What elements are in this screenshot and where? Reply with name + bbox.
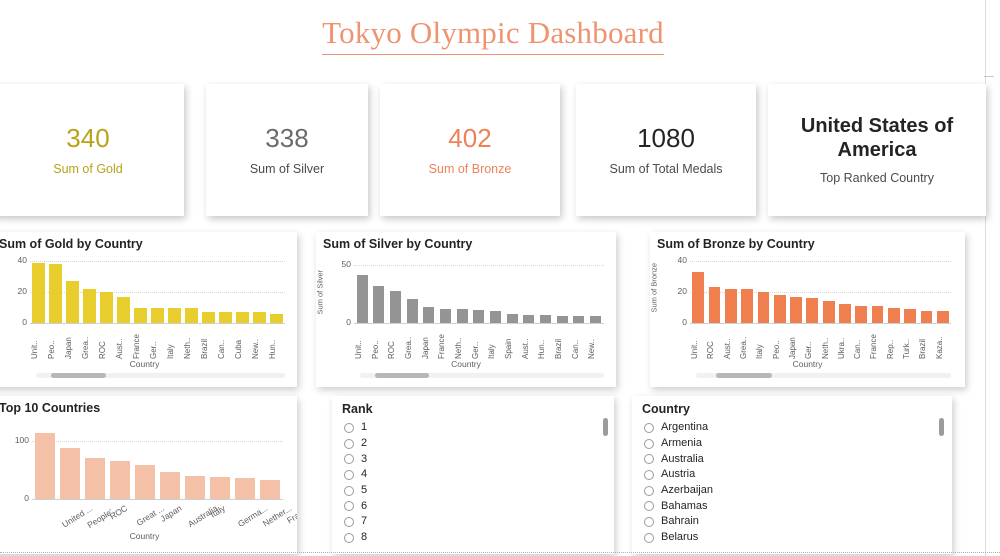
chart-horizontal-scrollbar[interactable]: [360, 373, 604, 378]
slicer-scrollbar-thumb-country[interactable]: [939, 418, 944, 436]
slicer-item[interactable]: Bahamas: [644, 498, 952, 514]
slicer-item[interactable]: Bahrain: [644, 514, 952, 530]
radio-button-icon[interactable]: [644, 501, 654, 511]
bar-slot[interactable]: [387, 265, 404, 323]
radio-button-icon[interactable]: [344, 533, 354, 543]
x-axis-label: Peo..: [772, 325, 788, 359]
x-axis-label: Can..: [571, 325, 588, 359]
x-axis-line: [690, 323, 951, 324]
radio-button-icon[interactable]: [344, 517, 354, 527]
x-axis-label: Turk..: [902, 325, 918, 359]
kpi-value-total-medals: 1080: [637, 124, 695, 153]
bar-slot[interactable]: [918, 261, 934, 323]
x-axis-label: Grea..: [404, 325, 421, 359]
bar[interactable]: [839, 304, 851, 323]
bar-slot[interactable]: [437, 265, 454, 323]
radio-button-icon[interactable]: [344, 486, 354, 496]
bar[interactable]: [457, 309, 468, 323]
bar-slot[interactable]: [354, 265, 371, 323]
x-axis-label: Aust..: [115, 325, 132, 359]
x-axis-label: Brazil: [200, 325, 217, 359]
bar-slot[interactable]: [47, 261, 64, 323]
x-axis-label: Aust..: [521, 325, 538, 359]
bar-slot[interactable]: [32, 429, 57, 499]
x-axis-label: Can..: [217, 325, 234, 359]
chart-plot-bronze: Sum of Bronze02040Unit..ROCAust..Grea..I…: [650, 251, 965, 376]
x-axis-label: Spain: [504, 325, 521, 359]
slicer-item[interactable]: Argentina: [644, 420, 952, 436]
slicer-item-label: 6: [361, 501, 367, 512]
slicer-title-country: Country: [632, 396, 952, 418]
bar-slot[interactable]: [537, 265, 554, 323]
chart-horizontal-scrollbar[interactable]: [36, 373, 285, 378]
bar[interactable]: [523, 315, 534, 323]
x-axis-label: France: [437, 325, 454, 359]
bar-slot[interactable]: [200, 261, 217, 323]
bar[interactable]: [557, 316, 568, 323]
x-axis-label: Peo..: [371, 325, 388, 359]
chart-card-gold[interactable]: Sum of Gold by Country Sum of Gold02040U…: [0, 232, 297, 387]
dashboard-title-container: Tokyo Olympic Dashboard: [0, 14, 986, 55]
slicer-item-label: 1: [361, 422, 367, 433]
x-axis-label: Aust..: [723, 325, 739, 359]
x-axis-label: Grea..: [81, 325, 98, 359]
x-axis-title: Country: [316, 359, 616, 369]
bar[interactable]: [85, 458, 105, 499]
bar[interactable]: [134, 308, 146, 324]
x-axis-label: Can..: [853, 325, 869, 359]
slicer-item-label: Austria: [661, 469, 695, 480]
bar-slot[interactable]: [57, 429, 82, 499]
bar-slot[interactable]: [886, 261, 902, 323]
kpi-label-gold: Sum of Gold: [53, 162, 122, 176]
slicer-item[interactable]: Austria: [644, 467, 952, 483]
bar[interactable]: [202, 312, 214, 323]
radio-button-icon[interactable]: [644, 423, 654, 433]
bar[interactable]: [185, 308, 197, 324]
chart-plot-silver: Sum of Silver050Unit..Peo..ROCGrea..Japa…: [316, 251, 616, 376]
x-axis-label: France: [132, 325, 149, 359]
bar[interactable]: [373, 286, 384, 323]
slicer-item-label: 8: [361, 532, 367, 543]
bar[interactable]: [135, 465, 155, 499]
slicer-scrollbar-thumb-rank[interactable]: [603, 418, 608, 436]
kpi-card-gold[interactable]: 340 Sum of Gold: [0, 84, 184, 216]
bar-slot[interactable]: [421, 265, 438, 323]
bar-slot[interactable]: [504, 265, 521, 323]
chart-title-bronze: Sum of Bronze by Country: [650, 232, 965, 251]
chart-scrollbar-thumb[interactable]: [375, 373, 429, 378]
bar-slot[interactable]: [853, 261, 869, 323]
slicer-item[interactable]: 8: [344, 530, 614, 546]
slicer-scrollbar-rank[interactable]: [603, 418, 608, 544]
slicer-item[interactable]: Armenia: [644, 436, 952, 452]
kpi-value-bronze: 402: [448, 124, 491, 153]
bar[interactable]: [741, 289, 753, 323]
x-axis-label: Ger..: [471, 325, 488, 359]
bar-slot[interactable]: [554, 265, 571, 323]
slicer-item-label: Armenia: [661, 438, 702, 449]
bar-slot[interactable]: [404, 265, 421, 323]
chart-horizontal-scrollbar[interactable]: [696, 373, 951, 378]
x-axis-label: Italy: [755, 325, 771, 359]
x-axis-label: Unit..: [690, 325, 706, 359]
bar-slot[interactable]: [521, 265, 538, 323]
bar[interactable]: [888, 308, 900, 324]
bar[interactable]: [855, 306, 867, 323]
bar[interactable]: [473, 310, 484, 323]
slicer-card-rank[interactable]: Rank 12345678: [332, 396, 614, 554]
kpi-value-silver: 338: [265, 124, 308, 153]
x-axis-label: Italy: [487, 325, 504, 359]
bar[interactable]: [872, 306, 884, 323]
bar-slot[interactable]: [935, 261, 951, 323]
bar[interactable]: [357, 275, 368, 323]
x-axis-label: New..: [587, 325, 604, 359]
slicer-list-rank[interactable]: 12345678: [332, 418, 614, 546]
x-axis-labels: Unit..Peo..ROCGrea..JapanFranceNeth..Ger…: [354, 325, 604, 359]
slicer-item-label: 2: [361, 438, 367, 449]
chart-title-top10: Top 10 Countries: [0, 396, 297, 415]
bar[interactable]: [440, 309, 451, 323]
x-axis-label: Unit..: [30, 325, 47, 359]
chart-card-top10[interactable]: Top 10 Countries Sum of Total Med..0100U…: [0, 396, 297, 554]
bar[interactable]: [390, 291, 401, 323]
bar[interactable]: [407, 299, 418, 323]
chart-scrollbar-thumb[interactable]: [51, 373, 106, 378]
radio-button-icon[interactable]: [344, 501, 354, 511]
bar[interactable]: [823, 301, 835, 323]
x-axis-label: Brazil: [918, 325, 934, 359]
radio-button-icon[interactable]: [344, 439, 354, 449]
bar-slot[interactable]: [132, 261, 149, 323]
bar[interactable]: [66, 281, 78, 323]
radio-button-icon[interactable]: [644, 486, 654, 496]
bar-series: [32, 429, 283, 499]
bar-slot[interactable]: [690, 261, 706, 323]
bar-slot[interactable]: [233, 429, 258, 499]
y-axis-title: Sum of Total Med..: [0, 441, 1, 485]
slicer-item[interactable]: 1: [344, 420, 614, 436]
x-axis-label: Ger..: [804, 325, 820, 359]
slicer-item[interactable]: 2: [344, 436, 614, 452]
radio-button-icon[interactable]: [344, 454, 354, 464]
x-axis-label: Grea..: [739, 325, 755, 359]
bar-slot[interactable]: [166, 261, 183, 323]
slicer-item-label: 3: [361, 454, 367, 465]
slicer-title-rank: Rank: [332, 396, 614, 418]
x-axis-label: Rep..: [886, 325, 902, 359]
slicer-item-label: Bahamas: [661, 501, 707, 512]
radio-button-icon[interactable]: [644, 470, 654, 480]
chart-title-gold: Sum of Gold by Country: [0, 232, 297, 251]
bar[interactable]: [35, 433, 55, 499]
bar-slot[interactable]: [149, 261, 166, 323]
bar-slot[interactable]: [132, 429, 157, 499]
x-axis-title: Country: [0, 359, 297, 369]
kpi-label-bronze: Sum of Bronze: [429, 162, 512, 176]
bar-slot[interactable]: [81, 261, 98, 323]
x-axis-label: Cuba: [234, 325, 251, 359]
x-axis-label: Japan: [421, 325, 438, 359]
y-axis-tick-label: 20: [663, 287, 687, 296]
x-axis-label: Unit..: [354, 325, 371, 359]
bar-slot[interactable]: [723, 261, 739, 323]
slicer-item-label: Australia: [661, 454, 704, 465]
slicer-list-country[interactable]: ArgentinaArmeniaAustraliaAustriaAzerbaij…: [632, 418, 952, 546]
x-axis-label: Japan: [64, 325, 81, 359]
bar[interactable]: [260, 480, 280, 499]
x-axis-label: Ger..: [149, 325, 166, 359]
slicer-item[interactable]: 4: [344, 467, 614, 483]
bar[interactable]: [49, 264, 61, 323]
bar[interactable]: [507, 314, 518, 323]
kpi-value-top-ranked-country: United States of America: [776, 115, 978, 162]
bar-slot[interactable]: [471, 265, 488, 323]
bar-slot[interactable]: [115, 261, 132, 323]
x-axis-labels: Unit..ROCAust..Grea..ItalyPeo..JapanGer.…: [690, 325, 951, 359]
chart-card-bronze[interactable]: Sum of Bronze by Country Sum of Bronze02…: [650, 232, 965, 387]
bar-slot[interactable]: [157, 429, 182, 499]
dashboard-page: Tokyo Olympic Dashboard 340 Sum of Gold …: [0, 0, 1000, 556]
bar-slot[interactable]: [706, 261, 722, 323]
bar[interactable]: [32, 263, 44, 323]
bar-slot[interactable]: [217, 261, 234, 323]
bar[interactable]: [806, 298, 818, 323]
slicer-item[interactable]: Australia: [644, 451, 952, 467]
radio-button-icon[interactable]: [644, 533, 654, 543]
chart-plot-top10: Sum of Total Med..0100United ...People'.…: [0, 415, 297, 545]
bar[interactable]: [774, 295, 786, 323]
bar-series: [690, 261, 951, 323]
x-axis-label: Kaza..: [935, 325, 951, 359]
bar-slot[interactable]: [371, 265, 388, 323]
x-axis-label: Neth..: [821, 325, 837, 359]
slicer-item-label: 5: [361, 485, 367, 496]
slicer-item-label: 7: [361, 516, 367, 527]
bar-slot[interactable]: [587, 265, 604, 323]
slicer-item-label: Azerbaijan: [661, 485, 713, 496]
bar-slot[interactable]: [251, 261, 268, 323]
bar-slot[interactable]: [755, 261, 771, 323]
y-axis-tick-label: 0: [663, 318, 687, 327]
bar[interactable]: [790, 297, 802, 323]
bar-slot[interactable]: [739, 261, 755, 323]
bar-slot[interactable]: [64, 261, 81, 323]
slicer-scrollbar-country[interactable]: [939, 418, 944, 544]
x-axis-label: Hun..: [537, 325, 554, 359]
bar[interactable]: [253, 312, 265, 323]
x-axis-label: Neth..: [454, 325, 471, 359]
kpi-label-silver: Sum of Silver: [250, 162, 324, 176]
x-axis-label: Peo..: [47, 325, 64, 359]
slicer-item[interactable]: 3: [344, 451, 614, 467]
y-axis-title: Sum of Bronze: [650, 269, 659, 313]
bar-series: [30, 261, 285, 323]
bar-slot[interactable]: [902, 261, 918, 323]
x-axis-label: ROC: [706, 325, 722, 359]
bar-slot[interactable]: [804, 261, 820, 323]
kpi-label-top-ranked-country: Top Ranked Country: [820, 171, 934, 185]
bar-slot[interactable]: [183, 429, 208, 499]
bar[interactable]: [709, 287, 721, 323]
bar[interactable]: [921, 311, 933, 323]
bar-slot[interactable]: [869, 261, 885, 323]
bar[interactable]: [758, 292, 770, 323]
bar[interactable]: [185, 476, 205, 499]
radio-button-icon[interactable]: [344, 423, 354, 433]
slicer-item-label: Argentina: [661, 422, 708, 433]
bar[interactable]: [235, 478, 255, 499]
x-axis-line: [354, 323, 604, 324]
bar-slot[interactable]: [454, 265, 471, 323]
bar[interactable]: [100, 292, 112, 323]
y-axis-tick-label: 50: [327, 260, 351, 269]
bar-slot[interactable]: [107, 429, 132, 499]
bar-slot[interactable]: [571, 265, 588, 323]
slicer-item-label: 4: [361, 469, 367, 480]
y-axis-title: Sum of Silver: [316, 271, 325, 315]
bar[interactable]: [904, 309, 916, 323]
bar[interactable]: [490, 311, 501, 323]
slicer-item[interactable]: Azerbaijan: [644, 483, 952, 499]
x-axis-label: New..: [251, 325, 268, 359]
bar[interactable]: [210, 477, 230, 499]
bar-slot[interactable]: [98, 261, 115, 323]
slicer-card-country[interactable]: Country ArgentinaArmeniaAustraliaAustria…: [632, 396, 952, 554]
x-axis-title: Country: [0, 531, 297, 541]
bar[interactable]: [590, 316, 601, 323]
chart-scrollbar-thumb[interactable]: [716, 373, 772, 378]
bar[interactable]: [423, 307, 434, 323]
page-bottom-dotted-border: [0, 552, 1000, 553]
bar[interactable]: [573, 316, 584, 323]
bar-slot[interactable]: [788, 261, 804, 323]
slicer-item[interactable]: 5: [344, 483, 614, 499]
y-axis-title: Sum of Gold: [0, 269, 1, 313]
radio-button-icon[interactable]: [644, 454, 654, 464]
bar-slot[interactable]: [487, 265, 504, 323]
bar[interactable]: [168, 308, 180, 324]
bar-series: [354, 265, 604, 323]
kpi-card-bronze[interactable]: 402 Sum of Bronze: [380, 84, 560, 216]
kpi-card-total-medals[interactable]: 1080 Sum of Total Medals: [576, 84, 756, 216]
bar-slot[interactable]: [772, 261, 788, 323]
bar-slot[interactable]: [258, 429, 283, 499]
x-axis-label: Ukra..: [837, 325, 853, 359]
bar[interactable]: [151, 308, 163, 324]
radio-button-icon[interactable]: [344, 470, 354, 480]
bar-slot[interactable]: [837, 261, 853, 323]
page-title: Tokyo Olympic Dashboard: [322, 14, 664, 55]
bar[interactable]: [725, 289, 737, 323]
bar[interactable]: [270, 314, 282, 323]
slicer-item[interactable]: Belarus: [644, 530, 952, 546]
page-boundary-tick: [984, 76, 994, 77]
x-axis-label: Hun..: [268, 325, 285, 359]
bar-slot[interactable]: [30, 261, 47, 323]
bar[interactable]: [219, 312, 231, 323]
y-axis-tick-label: 100: [5, 436, 29, 445]
bar-slot[interactable]: [82, 429, 107, 499]
y-axis-tick-label: 0: [3, 318, 27, 327]
bar[interactable]: [236, 312, 248, 323]
radio-button-icon[interactable]: [644, 517, 654, 527]
x-axis-label: Japan: [788, 325, 804, 359]
bar-slot[interactable]: [183, 261, 200, 323]
slicer-item-label: Bahrain: [661, 516, 699, 527]
y-axis-tick-label: 40: [663, 256, 687, 265]
bar[interactable]: [110, 461, 130, 499]
kpi-card-top-ranked-country[interactable]: United States of America Top Ranked Coun…: [768, 84, 986, 216]
chart-card-silver[interactable]: Sum of Silver by Country Sum of Silver05…: [316, 232, 616, 387]
bar[interactable]: [692, 272, 704, 323]
y-axis-tick-label: 40: [3, 256, 27, 265]
x-axis-line: [32, 499, 283, 500]
kpi-card-silver[interactable]: 338 Sum of Silver: [206, 84, 368, 216]
kpi-card-row: 340 Sum of Gold 338 Sum of Silver 402 Su…: [0, 84, 986, 220]
radio-button-icon[interactable]: [644, 439, 654, 449]
x-axis-label: ROC: [387, 325, 404, 359]
chart-plot-gold: Sum of Gold02040Unit..Peo..JapanGrea..RO…: [0, 251, 297, 376]
kpi-label-total-medals: Sum of Total Medals: [609, 162, 722, 176]
bar-slot[interactable]: [821, 261, 837, 323]
bar[interactable]: [117, 297, 129, 323]
x-axis-line: [30, 323, 285, 324]
x-axis-label: ROC: [98, 325, 115, 359]
slicer-item[interactable]: 7: [344, 514, 614, 530]
bar[interactable]: [160, 472, 180, 499]
y-axis-tick-label: 20: [3, 287, 27, 296]
bar[interactable]: [937, 311, 949, 323]
x-axis-label: France: [869, 325, 885, 359]
x-axis-label: Neth..: [183, 325, 200, 359]
y-axis-tick-label: 0: [5, 494, 29, 503]
bar-slot[interactable]: [268, 261, 285, 323]
bar-slot[interactable]: [234, 261, 251, 323]
chart-title-silver: Sum of Silver by Country: [316, 232, 616, 251]
x-axis-title: Country: [650, 359, 965, 369]
x-axis-label: Brazil: [554, 325, 571, 359]
bar[interactable]: [83, 289, 95, 323]
bar[interactable]: [60, 448, 80, 499]
x-axis-labels: Unit..Peo..JapanGrea..ROCAust..FranceGer…: [30, 325, 285, 359]
bar-slot[interactable]: [208, 429, 233, 499]
y-axis-tick-label: 0: [327, 318, 351, 327]
bar[interactable]: [540, 315, 551, 323]
kpi-value-gold: 340: [66, 124, 109, 153]
slicer-item-label: Belarus: [661, 532, 698, 543]
x-axis-label: Italy: [166, 325, 183, 359]
slicer-item[interactable]: 6: [344, 498, 614, 514]
